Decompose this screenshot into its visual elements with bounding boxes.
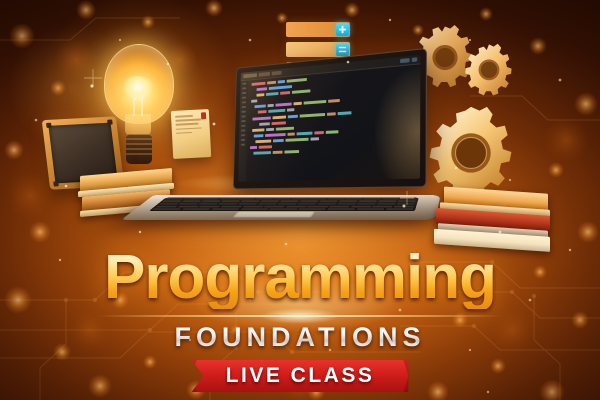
poster-canvas: Programming FOUNDATIONS LIVE CLASS bbox=[0, 0, 600, 400]
live-class-badge[interactable]: LIVE CLASS bbox=[192, 360, 409, 392]
title-divider bbox=[98, 315, 502, 317]
page-subtitle: FOUNDATIONS bbox=[0, 324, 600, 351]
status-badge: LIVE CLASS bbox=[226, 365, 375, 386]
page-title: Programming bbox=[0, 247, 600, 309]
title-block: Programming FOUNDATIONS LIVE CLASS bbox=[0, 247, 600, 392]
